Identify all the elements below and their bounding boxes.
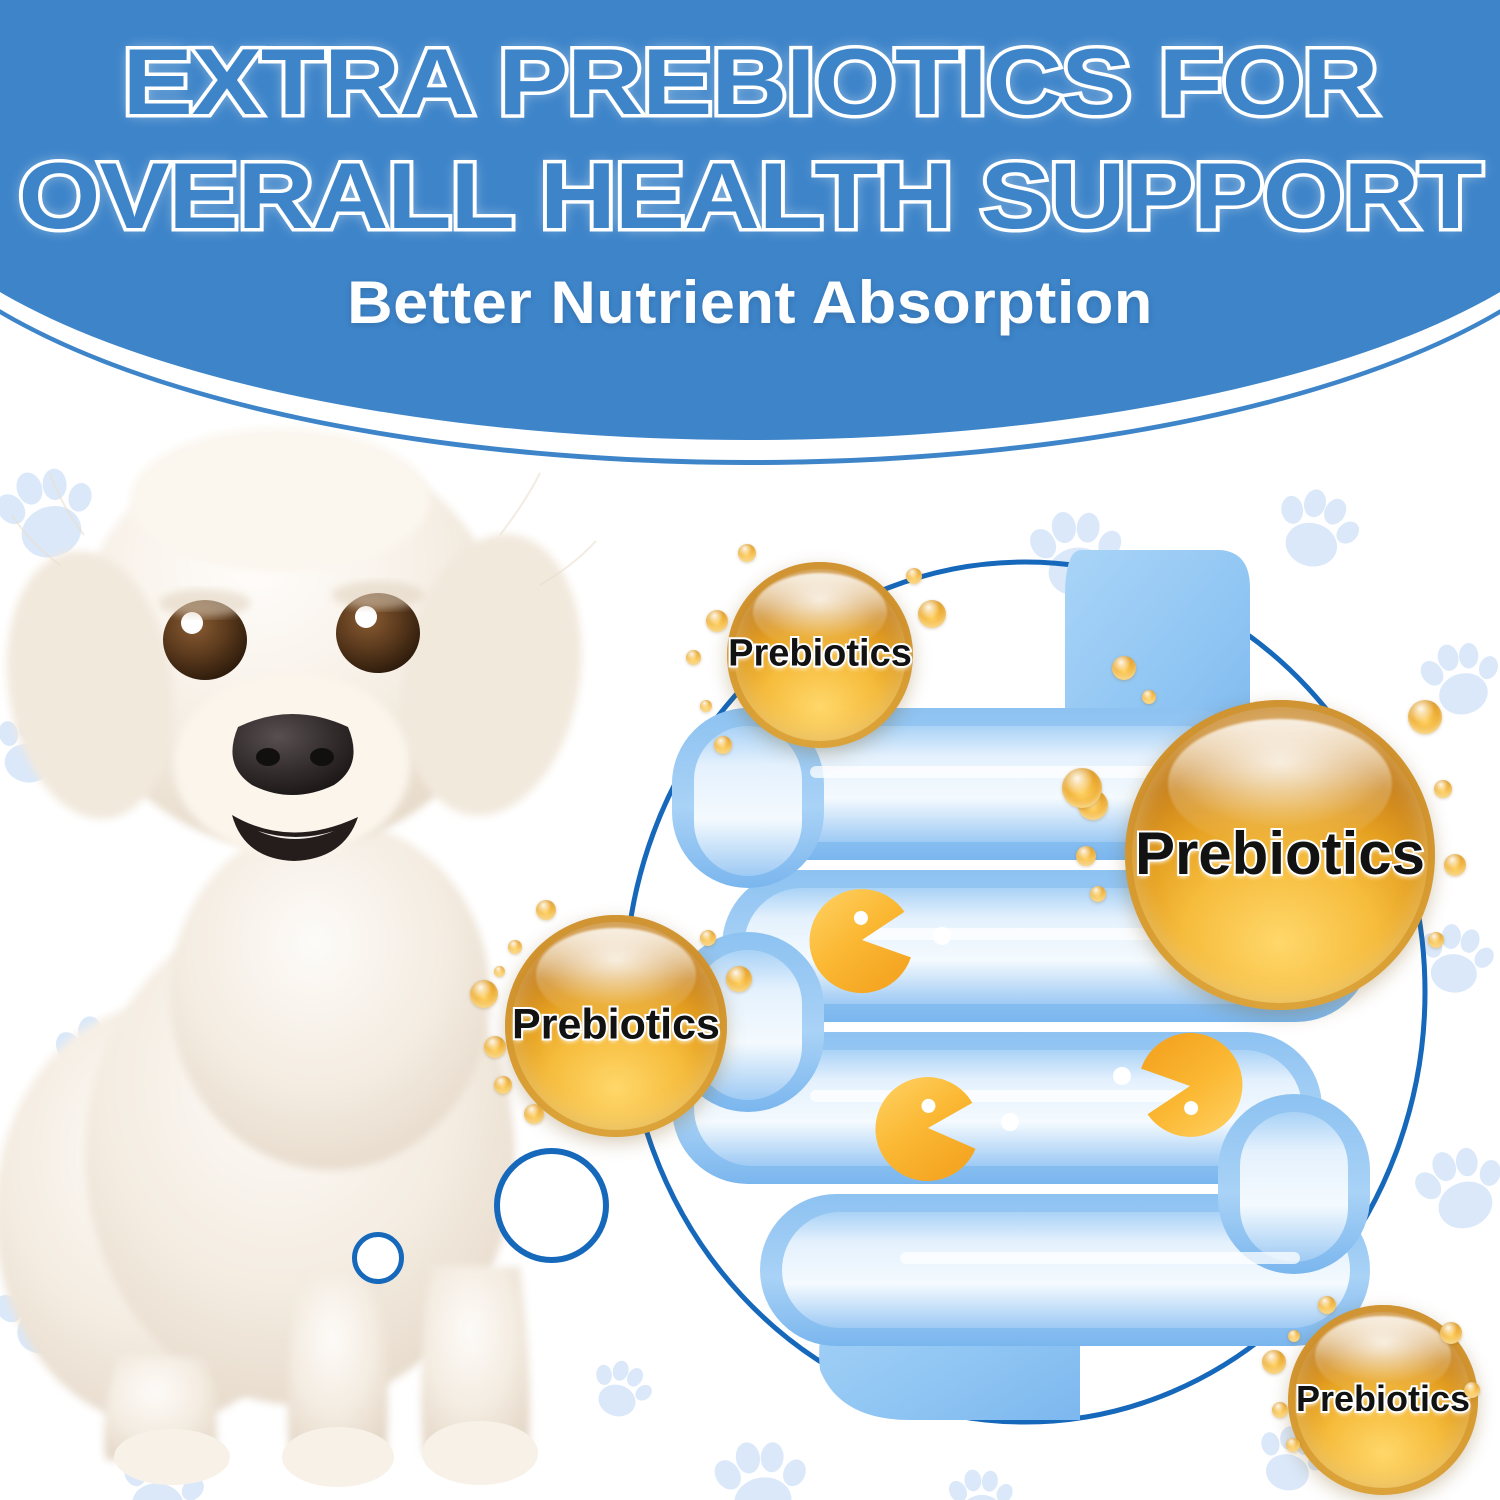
header-text-block: EXTRA PREBIOTICS FOR OVERALL HEALTH SUPP…	[0, 0, 1500, 337]
droplet-icon	[726, 966, 752, 992]
droplet-icon	[1112, 656, 1136, 680]
droplet-icon	[1288, 1330, 1300, 1342]
droplet-icon	[1076, 846, 1096, 866]
headline-line-2: OVERALL HEALTH SUPPORT	[0, 136, 1500, 250]
leader-dot-large	[494, 1148, 609, 1263]
dog-nose	[232, 714, 353, 795]
product-feature-poster: Prebiotics Prebiotics Prebiotics Prebiot…	[0, 0, 1500, 1500]
droplet-icon	[508, 940, 522, 954]
droplet-icon	[700, 930, 716, 946]
droplet-icon	[470, 980, 498, 1008]
droplet-icon	[1286, 1438, 1300, 1452]
droplet-icon	[1272, 1402, 1288, 1418]
droplet-icon	[536, 900, 556, 920]
droplet-icon	[494, 1076, 512, 1094]
droplet-icon	[738, 544, 756, 562]
droplet-icon	[706, 610, 728, 632]
droplet-icon	[524, 1104, 544, 1124]
droplet-icon	[700, 700, 712, 712]
droplet-icon	[1440, 1322, 1462, 1344]
droplet-icon	[686, 650, 701, 665]
droplet-icon	[918, 600, 946, 628]
droplet-icon	[1434, 780, 1452, 798]
droplet-icon	[714, 736, 732, 754]
prebiotics-bubble-3: Prebiotics	[505, 915, 727, 1137]
droplet-icon	[1318, 1296, 1336, 1314]
subheadline: Better Nutrient Absorption	[0, 268, 1500, 337]
droplet-icon	[484, 1036, 506, 1058]
prebiotics-label: Prebiotics	[727, 633, 913, 676]
droplet-icon	[1464, 1382, 1480, 1398]
droplet-icon	[494, 966, 505, 977]
paw-print-icon	[934, 1454, 1026, 1500]
prebiotics-label: Prebiotics	[505, 1001, 727, 1050]
droplet-icon	[1408, 700, 1442, 734]
prebiotics-bubble-1: Prebiotics	[727, 562, 913, 748]
droplet-icon	[1142, 690, 1156, 704]
droplet-icon	[1062, 768, 1102, 808]
droplet-icon	[1262, 1350, 1286, 1374]
droplet-icon	[906, 568, 922, 584]
droplet-icon	[1090, 886, 1106, 902]
nutrient-dot-2	[1113, 1067, 1131, 1085]
prebiotics-label: Prebiotics	[1288, 1378, 1478, 1420]
droplet-icon	[1428, 932, 1444, 948]
prebiotics-label: Prebiotics	[1125, 819, 1435, 888]
droplet-icon	[1444, 854, 1466, 876]
nutrient-dot-3	[1001, 1113, 1019, 1131]
prebiotics-bubble-2: Prebiotics	[1125, 700, 1435, 1010]
headline-line-1: EXTRA PREBIOTICS FOR	[0, 0, 1500, 136]
leader-dot-small	[352, 1232, 404, 1284]
nutrient-dot-1	[933, 927, 951, 945]
